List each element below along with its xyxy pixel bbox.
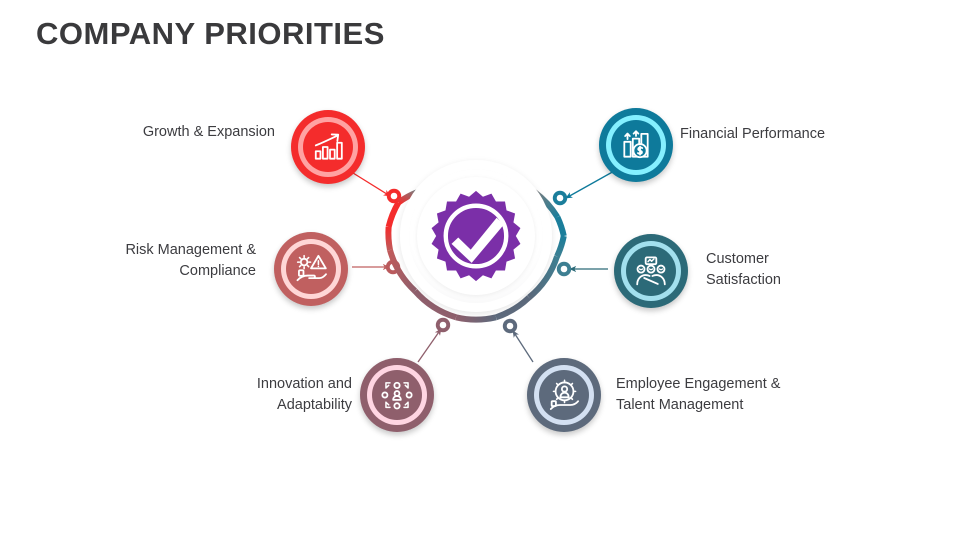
node-innovation-adaptability[interactable] [360,358,434,432]
node-customer-satisfaction[interactable] [614,234,688,308]
customer-feedback-people-icon [626,246,676,296]
label-employee-engagement-talent: Employee Engagement & Talent Management [616,374,866,415]
network-nodes-person-icon [372,370,422,420]
gear-warning-hand-icon [286,244,336,294]
connector-employee-engagement-talent [513,331,533,362]
company-priorities-diagram: Growth & ExpansionFinancial PerformanceR… [0,0,960,540]
node-financial-performance[interactable] [599,108,673,182]
node-growth-expansion[interactable] [291,110,365,184]
bar-chart-growth-arrow-icon [303,122,353,172]
label-customer-satisfaction: Customer Satisfaction [706,249,906,290]
center-hub [381,141,571,331]
node-employee-engagement-talent[interactable] [527,358,601,432]
verified-badge-check-icon [428,188,524,284]
slide-canvas: COMPANY PRIORITIES [0,0,960,540]
label-innovation-adaptability: Innovation and Adaptability [190,374,352,415]
label-growth-expansion: Growth & Expansion [60,122,275,143]
money-bar-chart-coin-icon [611,120,661,170]
label-risk-management-compliance: Risk Management & Compliance [60,240,256,281]
connector-financial-performance [566,170,616,198]
label-financial-performance: Financial Performance [680,124,920,145]
connector-innovation-adaptability [418,329,441,362]
node-risk-management-compliance[interactable] [274,232,348,306]
gear-person-hand-icon [539,370,589,420]
